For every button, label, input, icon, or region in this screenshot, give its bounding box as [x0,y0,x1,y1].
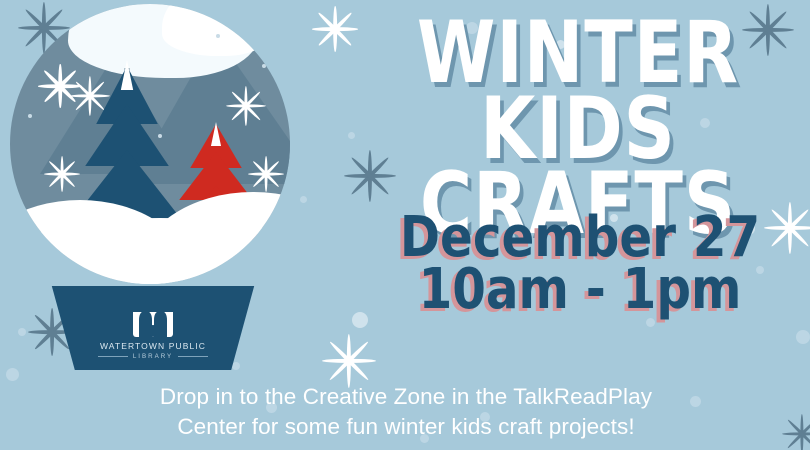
logo-rule-right [178,356,208,357]
event-description: Drop in to the Creative Zone in the Talk… [48,382,764,441]
logo-sub: LIBRARY [133,353,173,360]
winter-kids-crafts-poster: WATERTOWN PUBLIC LIBRARY WINTER KIDS CRA… [0,0,810,450]
background-dot [28,114,32,118]
globe-snow-cap [162,4,272,56]
event-datetime: December 27 10am - 1pm [350,212,810,315]
title-line-1: WINTER KIDS [370,16,786,167]
background-dot [216,34,220,38]
logo-rule-left [98,356,128,357]
logo-sub-row: LIBRARY [78,353,228,360]
background-dot [796,330,810,344]
library-logo: WATERTOWN PUBLIC LIBRARY [78,304,228,360]
description-line-2: Center for some fun winter kids craft pr… [48,412,764,442]
background-dot [262,64,266,68]
snowflake-icon [322,334,376,388]
snowflake-icon [226,86,266,126]
snow-globe: WATERTOWN PUBLIC LIBRARY [0,0,310,386]
event-time: 10am - 1pm [359,264,801,316]
arched-window-icon [132,304,174,338]
snowflake-icon [782,414,810,450]
globe-base: WATERTOWN PUBLIC LIBRARY [38,286,268,370]
logo-name: WATERTOWN PUBLIC [78,341,228,351]
globe-ball [10,4,290,284]
description-line-1: Drop in to the Creative Zone in the Talk… [48,382,764,412]
